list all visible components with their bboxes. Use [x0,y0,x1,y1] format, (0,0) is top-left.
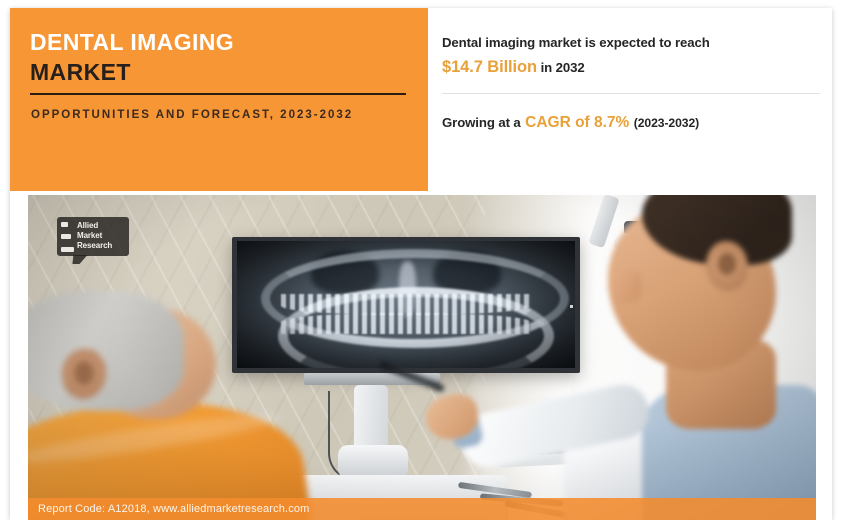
logo-bubble-tail-icon [73,255,88,264]
logo-bars-icon [61,221,74,252]
xray-screen [237,241,575,368]
dentist-figure [546,195,816,520]
footer-bar: Report Code: A12018, www.alliedmarketres… [28,498,816,520]
cagr-value: CAGR of 8.7% [525,114,629,131]
logo-line-1: Allied [77,221,112,231]
market-value-amount: $14.7 Billion [442,58,537,76]
stats-panel: Dental imaging market is expected to rea… [428,8,832,191]
page-subtitle: OPPORTUNITIES AND FORECAST, 2023-2032 [31,107,401,125]
logo-line-2: Market [77,231,112,241]
report-code-and-url[interactable]: Report Code: A12018, www.alliedmarketres… [38,503,309,515]
title-panel: DENTAL IMAGING MARKET OPPORTUNITIES AND … [10,8,428,191]
market-value-prefix: Dental imaging market is expected to rea… [442,35,710,50]
dentist-nose [608,271,642,303]
dentist-ear-inner [718,253,736,275]
xray-monitor [232,237,580,373]
stats-divider [442,93,820,94]
market-value-statement: Dental imaging market is expected to rea… [442,32,814,81]
cagr-period: (2023-2032) [634,116,699,130]
monitor-arm-joint [338,445,408,479]
xray-vignette [237,241,575,368]
patient-ear-inner [74,361,94,385]
clinic-photo: Allied Market Research Report Code: A120… [28,195,816,520]
infographic-card: DENTAL IMAGING MARKET OPPORTUNITIES AND … [10,8,832,520]
page-title-line-2: MARKET [30,58,406,88]
patient-hair-texture [28,291,184,411]
cagr-statement: Growing at a CAGR of 8.7% (2023-2032) [442,112,818,134]
logo-speech-bubble-icon: Allied Market Research [57,217,129,256]
allied-market-research-logo: Allied Market Research [57,217,129,256]
cagr-prefix: Growing at a [442,115,521,130]
market-value-suffix: in 2032 [541,60,585,75]
logo-line-3: Research [77,241,112,251]
page-title-line-1: DENTAL IMAGING [30,28,406,58]
logo-wordmark: Allied Market Research [77,221,112,252]
title-divider [30,93,406,95]
patient-figure [28,291,284,520]
